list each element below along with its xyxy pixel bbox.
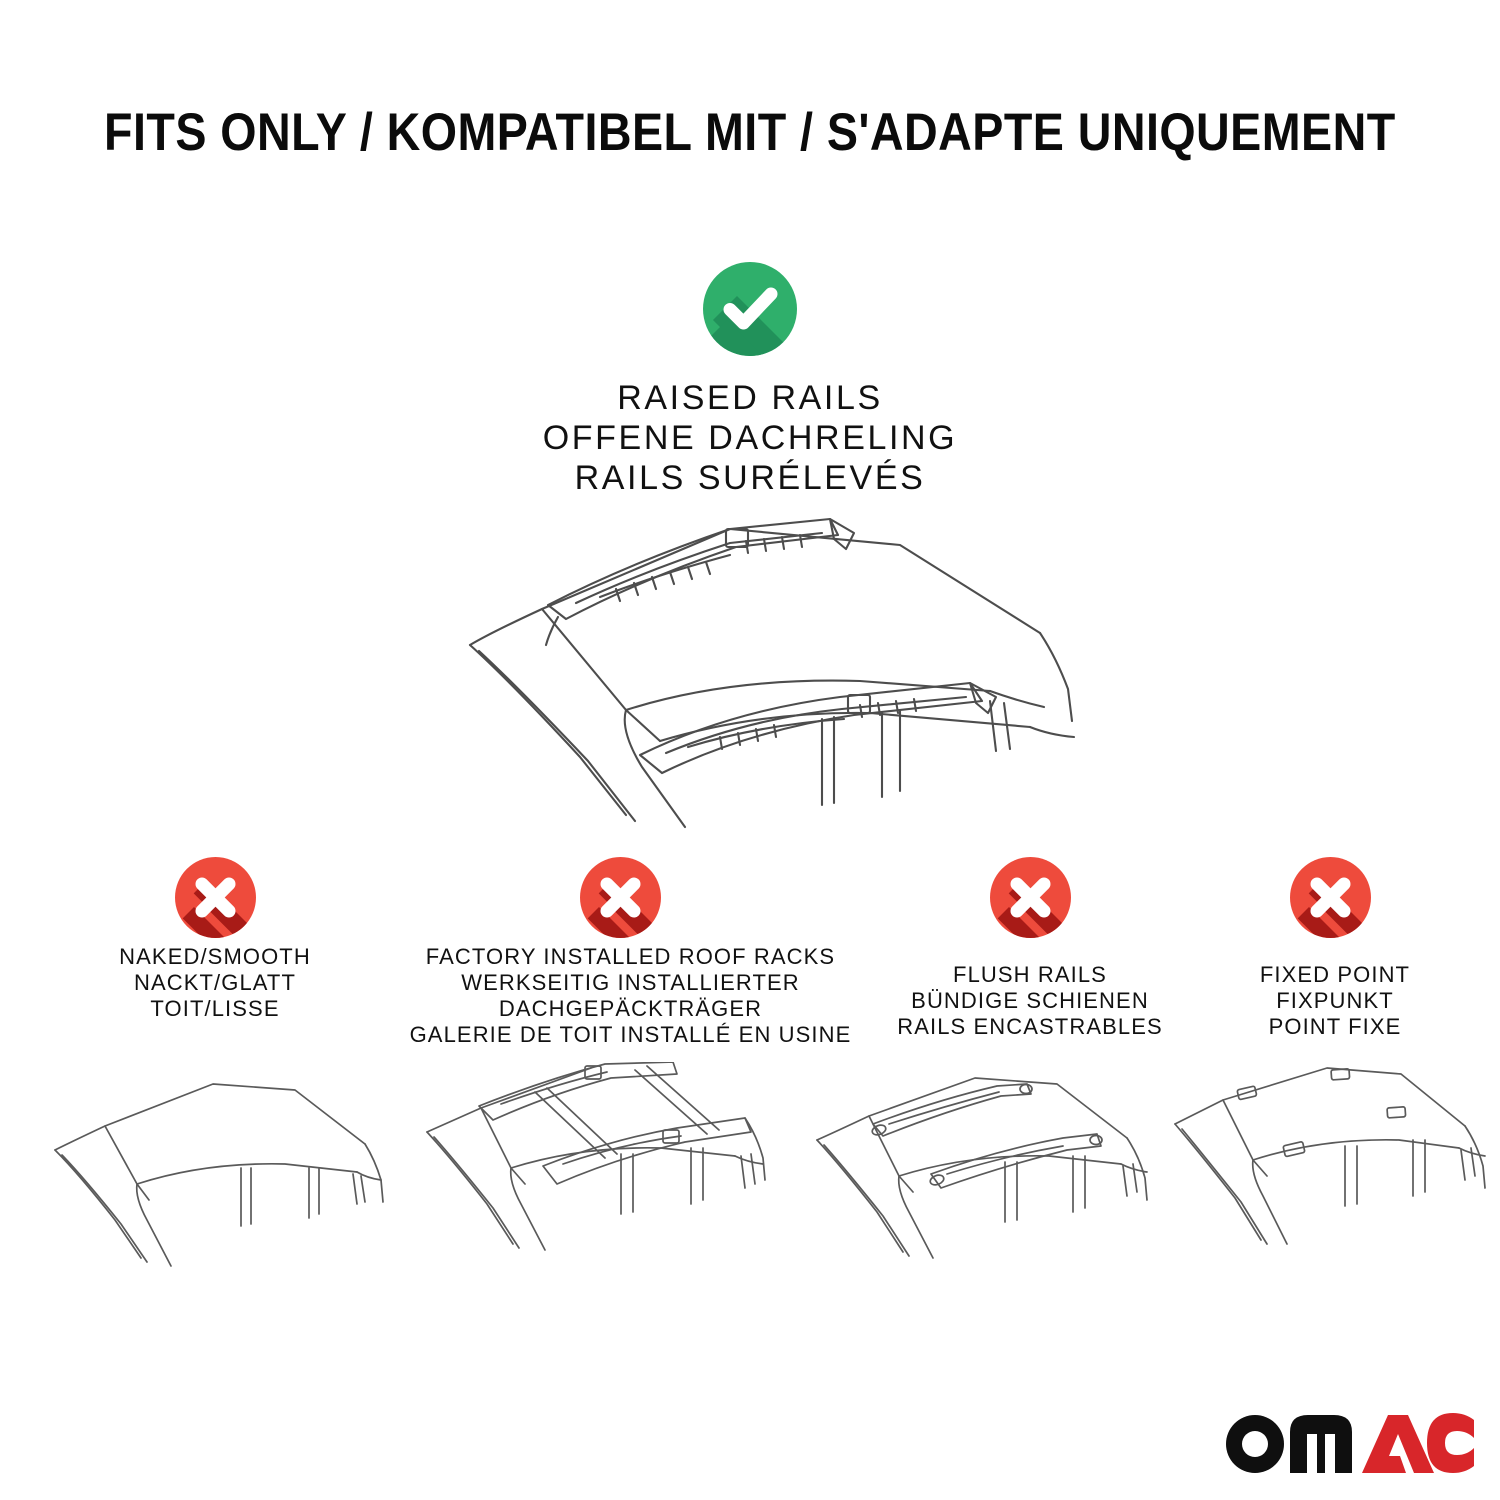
check-glyph bbox=[703, 262, 797, 356]
x-circle-icon bbox=[175, 857, 256, 938]
car-roof-flush-rails-illustration bbox=[805, 1062, 1155, 1287]
page-title-text: FITS ONLY / KOMPATIBEL MIT / S'ADAPTE UN… bbox=[104, 102, 1396, 163]
fixed-point-label-de: FIXPUNKT bbox=[1190, 988, 1480, 1014]
logo-letter-c bbox=[1427, 1413, 1474, 1473]
fixed-point-label-fr: POINT FIXE bbox=[1190, 1014, 1480, 1040]
car-roof-factory-installed-racks-illustration bbox=[415, 1062, 770, 1287]
naked-smooth-label-de: NACKT/GLATT bbox=[20, 970, 410, 996]
car-roof-naked-smooth-illustration bbox=[45, 1062, 390, 1287]
x-glyph bbox=[580, 857, 661, 938]
x-circle-icon bbox=[990, 857, 1071, 938]
logo-letter-a bbox=[1362, 1415, 1434, 1473]
flush-rails-label-de: BÜNDIGE SCHIENEN bbox=[860, 988, 1200, 1014]
omac-logo bbox=[1222, 1408, 1474, 1474]
fixed-point-caption: FIXED POINT FIXPUNKT POINT FIXE bbox=[1190, 962, 1480, 1040]
x-glyph bbox=[1290, 857, 1371, 938]
page-title: FITS ONLY / KOMPATIBEL MIT / S'ADAPTE UN… bbox=[0, 102, 1500, 163]
car-roof-with-raised-rails-illustration bbox=[430, 505, 1120, 835]
naked-smooth-caption: NAKED/SMOOTH NACKT/GLATT TOIT/LISSE bbox=[20, 944, 410, 1022]
check-circle-icon bbox=[703, 262, 797, 356]
factory-racks-label-en: FACTORY INSTALLED ROOF RACKS bbox=[398, 944, 863, 970]
flush-rails-label-en: FLUSH RAILS bbox=[860, 962, 1200, 988]
logo-letter-m bbox=[1290, 1415, 1352, 1473]
flush-rails-caption: FLUSH RAILS BÜNDIGE SCHIENEN RAILS ENCAS… bbox=[860, 962, 1200, 1040]
factory-racks-label-fr: GALERIE DE TOIT INSTALLÉ EN USINE bbox=[398, 1022, 863, 1048]
factory-racks-label-de-1: WERKSEITIG INSTALLIERTER bbox=[398, 970, 863, 996]
car-roof-fixed-point-illustration bbox=[1165, 1062, 1495, 1287]
compatible-label-en: RAISED RAILS bbox=[390, 378, 1110, 418]
x-circle-icon bbox=[580, 857, 661, 938]
logo-letter-o bbox=[1226, 1415, 1284, 1473]
fixed-point-label-en: FIXED POINT bbox=[1190, 962, 1480, 988]
compatible-label-de: OFFENE DACHRELING bbox=[390, 418, 1110, 458]
compatible-label-fr: RAILS SURÉLEVÉS bbox=[390, 458, 1110, 498]
x-glyph bbox=[175, 857, 256, 938]
x-circle-icon bbox=[1290, 857, 1371, 938]
naked-smooth-label-fr: TOIT/LISSE bbox=[20, 996, 410, 1022]
x-glyph bbox=[990, 857, 1071, 938]
compatible-caption: RAISED RAILS OFFENE DACHRELING RAILS SUR… bbox=[390, 378, 1110, 498]
flush-rails-label-fr: RAILS ENCASTRABLES bbox=[860, 1014, 1200, 1040]
factory-racks-label-de-2: DACHGEPÄCKTRÄGER bbox=[398, 996, 863, 1022]
factory-racks-caption: FACTORY INSTALLED ROOF RACKS WERKSEITIG … bbox=[398, 944, 863, 1048]
naked-smooth-label-en: NAKED/SMOOTH bbox=[20, 944, 410, 970]
